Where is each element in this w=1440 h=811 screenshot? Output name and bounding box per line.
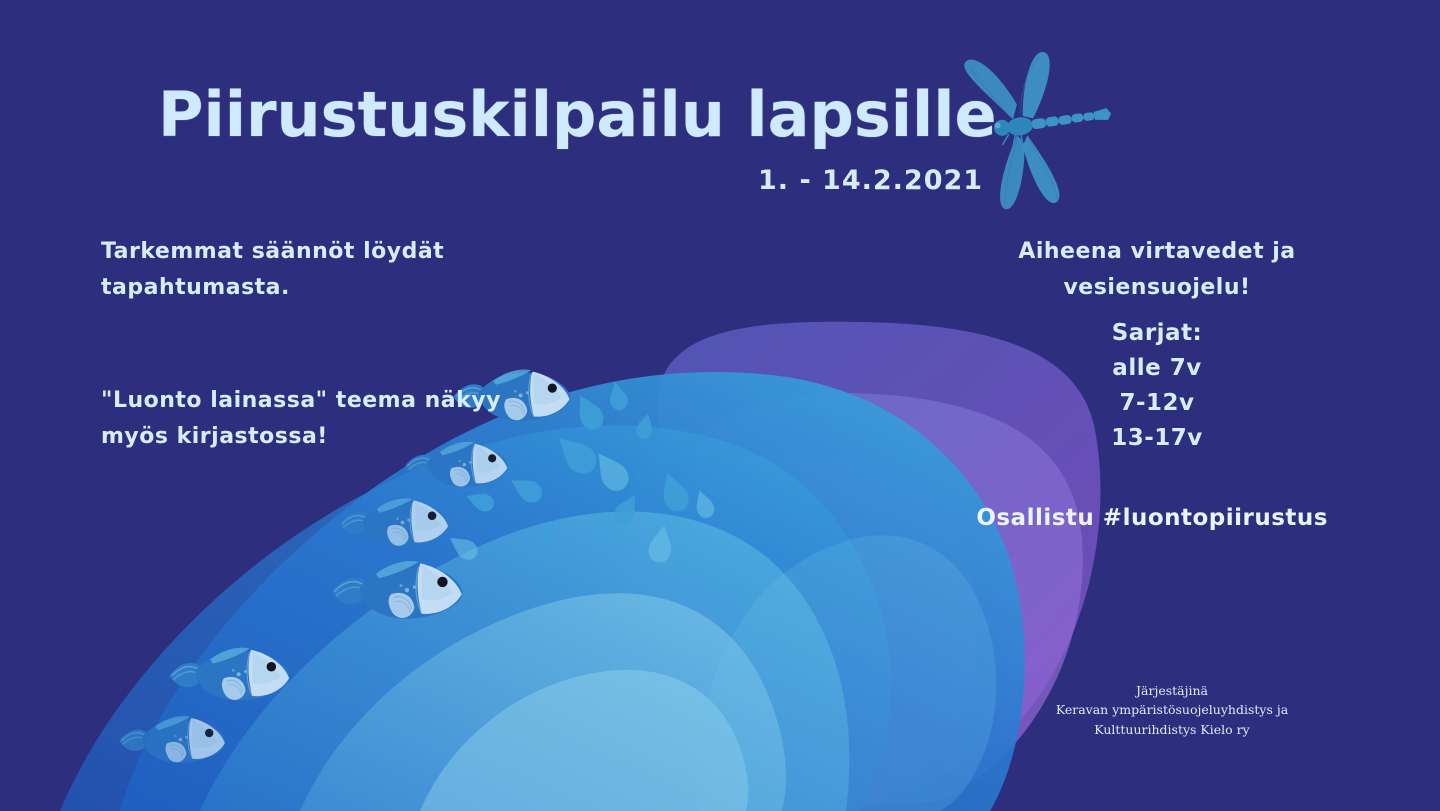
organizers-credit: Järjestäjinä Keravan ympäristösuojeluyhd… xyxy=(1022,681,1322,739)
rules-note: Tarkemmat säännöt löydät tapahtumasta. xyxy=(101,234,481,307)
library-theme-note: "Luonto lainassa" teema näkyy myös kirja… xyxy=(101,383,501,454)
series-item-2: 13-17v xyxy=(992,421,1322,456)
series-item-1: 7-12v xyxy=(992,386,1322,421)
organizers-line-2: Kulttuurihdistys Kielo ry xyxy=(1022,720,1322,739)
hashtag-callout: Osallistu #luontopiirustus xyxy=(976,505,1328,531)
poster-canvas: Piirustuskilpailu lapsille 1. - 14.2.202… xyxy=(0,0,1440,811)
series-list: Sarjat: alle 7v 7-12v 13-17v xyxy=(992,316,1322,456)
organizers-line-0: Järjestäjinä xyxy=(1022,681,1322,700)
topic-note: Aiheena virtavedet ja vesiensuojelu! xyxy=(992,234,1322,305)
series-title: Sarjat: xyxy=(992,316,1322,351)
organizers-line-1: Keravan ympäristösuojeluyhdistys ja xyxy=(1022,700,1322,719)
page-title: Piirustuskilpailu lapsille xyxy=(158,82,997,147)
series-item-0: alle 7v xyxy=(992,351,1322,386)
event-date: 1. - 14.2.2021 xyxy=(758,165,983,196)
